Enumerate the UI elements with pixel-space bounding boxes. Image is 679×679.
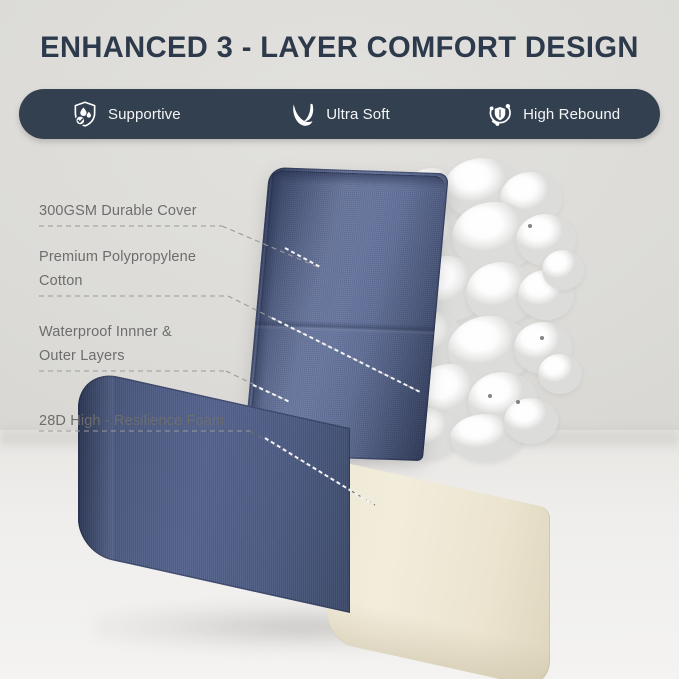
feature-label: Supportive: [108, 106, 181, 123]
annotation-line: Cotton: [39, 269, 196, 293]
annotation-waterproof-layers: Waterproof Innner & Outer Layers: [39, 320, 172, 368]
annotation-line: Premium Polypropylene: [39, 245, 196, 269]
annotation-line: Outer Layers: [39, 344, 172, 368]
page-title: ENHANCED 3 - LAYER COMFORT DESIGN: [10, 29, 669, 67]
annotation-line: Waterproof Innner &: [39, 320, 172, 344]
feather-icon: [289, 100, 317, 128]
feature-item-high-rebound: High Rebound: [446, 89, 660, 139]
annotation-polypropylene-cotton: Premium Polypropylene Cotton: [39, 245, 196, 293]
annotation-foam: 28D High - Resilience Foam: [39, 409, 224, 433]
cream-foam-block: [328, 459, 550, 679]
feature-label: Ultra Soft: [326, 106, 390, 123]
shield-orbit-icon: [486, 100, 514, 128]
feature-bar: Supportive Ultra Soft High Rebound: [19, 89, 660, 139]
feature-item-supportive: Supportive: [19, 89, 233, 139]
feature-label: High Rebound: [523, 106, 620, 123]
shield-droplet-check-icon: [71, 100, 99, 128]
feature-item-ultra-soft: Ultra Soft: [233, 89, 447, 139]
seat-cushion: [78, 420, 548, 650]
annotation-cover: 300GSM Durable Cover: [39, 199, 197, 223]
product-infographic: ENHANCED 3 - LAYER COMFORT DESIGN Suppor…: [0, 0, 679, 679]
